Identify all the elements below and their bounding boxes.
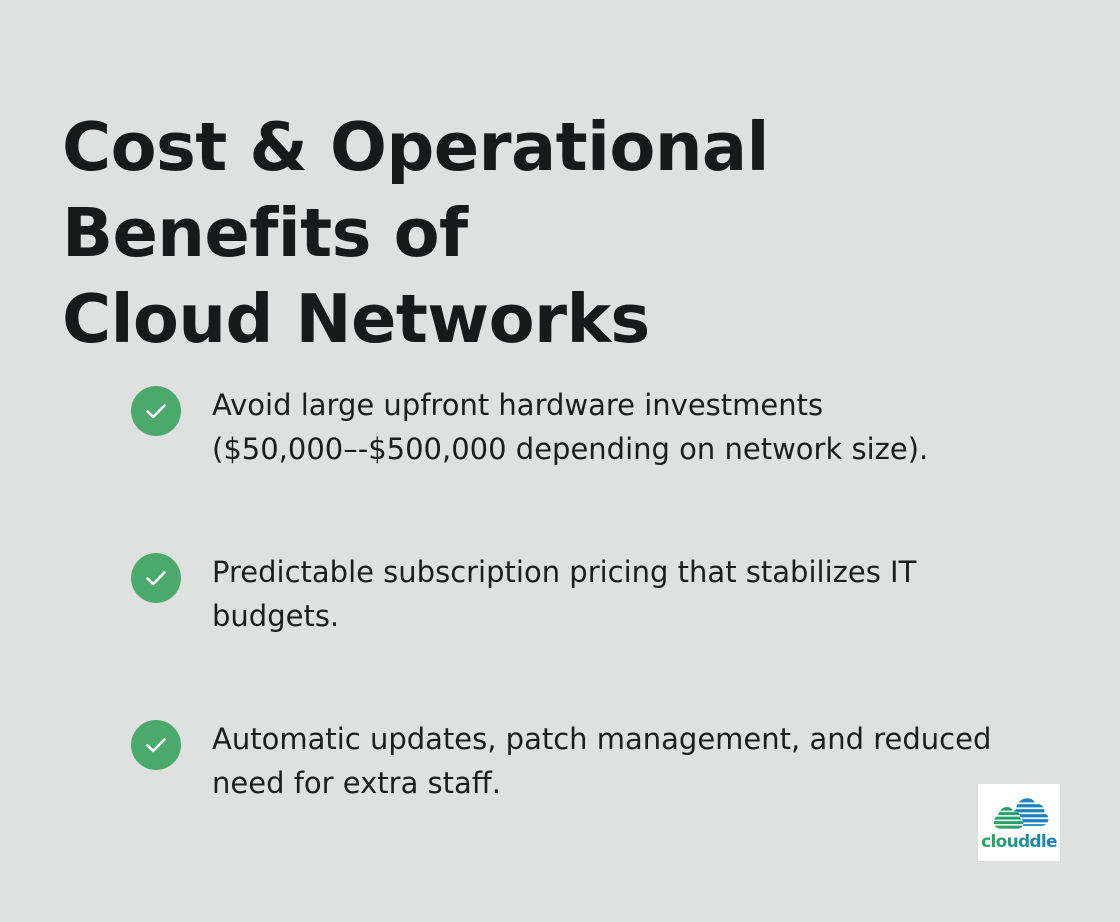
list-item-label: Automatic updates, patch management, and… — [212, 717, 1017, 805]
list-item: Predictable subscription pricing that st… — [131, 550, 1031, 638]
brand-logo[interactable]: clouddle — [978, 784, 1060, 861]
slide-canvas: Cost & Operational Benefits of Cloud Net… — [0, 0, 1120, 922]
list-item: Automatic updates, patch management, and… — [131, 717, 1031, 805]
cloud-logo-icon — [987, 795, 1051, 833]
page-title: Cost & Operational Benefits of Cloud Net… — [62, 104, 1052, 362]
benefits-list: Avoid large upfront hardware investments… — [131, 383, 1031, 805]
check-circle-icon — [131, 553, 181, 603]
brand-wordmark: clouddle — [981, 834, 1057, 851]
list-item-label: Avoid large upfront hardware investments… — [212, 383, 1012, 471]
check-circle-icon — [131, 386, 181, 436]
list-item: Avoid large upfront hardware investments… — [131, 383, 1031, 471]
check-circle-icon — [131, 720, 181, 770]
list-item-label: Predictable subscription pricing that st… — [212, 550, 972, 638]
